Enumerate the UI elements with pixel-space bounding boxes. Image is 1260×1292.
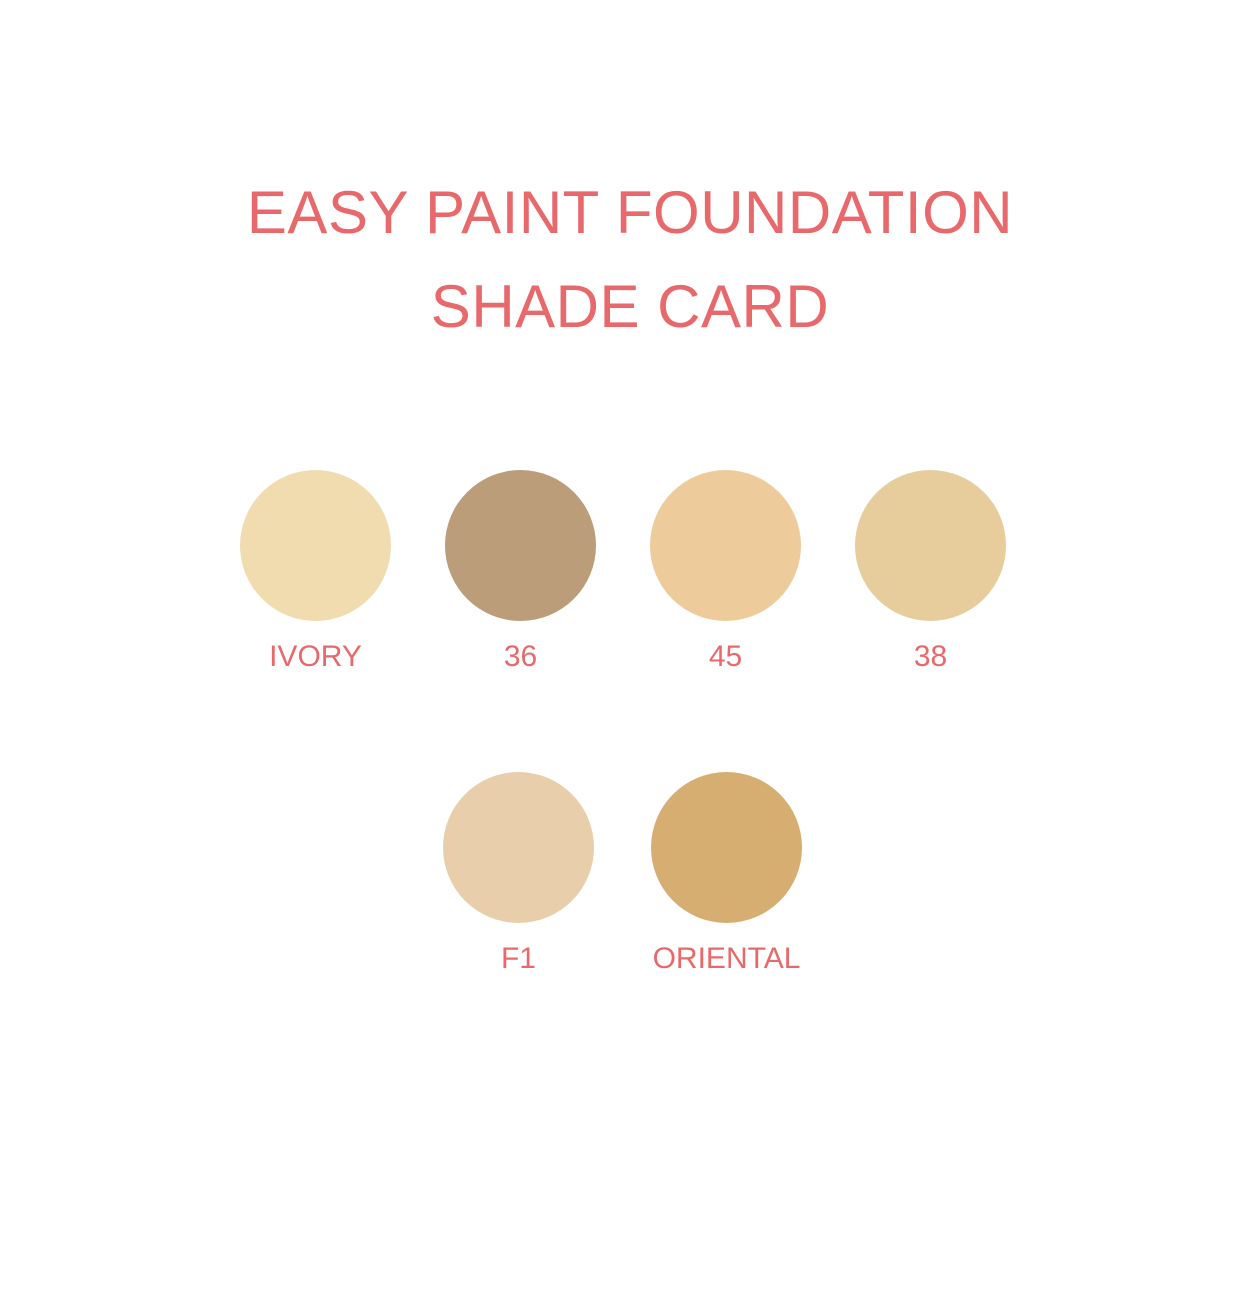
shade-swatch-row-2: F1 ORIENTAL	[0, 772, 1260, 977]
shade-swatch-oriental[interactable]: ORIENTAL	[651, 772, 802, 977]
shade-swatch-45[interactable]: 45	[650, 470, 801, 675]
shade-color-circle-38[interactable]	[855, 470, 1006, 621]
shade-swatch-grid: IVORY 36 45 38 F1 ORIENTAL	[0, 470, 1260, 977]
shade-label-oriental: ORIENTAL	[653, 941, 801, 977]
shade-card-page: EASY PAINT FOUNDATION SHADE CARD IVORY 3…	[0, 0, 1260, 1292]
shade-swatch-36[interactable]: 36	[445, 470, 596, 675]
shade-color-circle-f1[interactable]	[443, 772, 594, 923]
shade-label-36: 36	[504, 639, 537, 675]
shade-swatch-row-1: IVORY 36 45 38	[0, 470, 1260, 675]
shade-color-circle-ivory[interactable]	[240, 470, 391, 621]
shade-label-45: 45	[709, 639, 742, 675]
shade-label-f1: F1	[501, 941, 536, 977]
page-title: EASY PAINT FOUNDATION SHADE CARD	[0, 166, 1260, 354]
shade-label-38: 38	[914, 639, 947, 675]
page-title-line-1: EASY PAINT FOUNDATION	[0, 166, 1260, 260]
shade-color-circle-36[interactable]	[445, 470, 596, 621]
shade-swatch-38[interactable]: 38	[855, 470, 1006, 675]
shade-label-ivory: IVORY	[269, 639, 362, 675]
shade-swatch-ivory[interactable]: IVORY	[240, 470, 391, 675]
shade-color-circle-45[interactable]	[650, 470, 801, 621]
shade-color-circle-oriental[interactable]	[651, 772, 802, 923]
shade-swatch-f1[interactable]: F1	[443, 772, 594, 977]
page-title-line-2: SHADE CARD	[0, 260, 1260, 354]
